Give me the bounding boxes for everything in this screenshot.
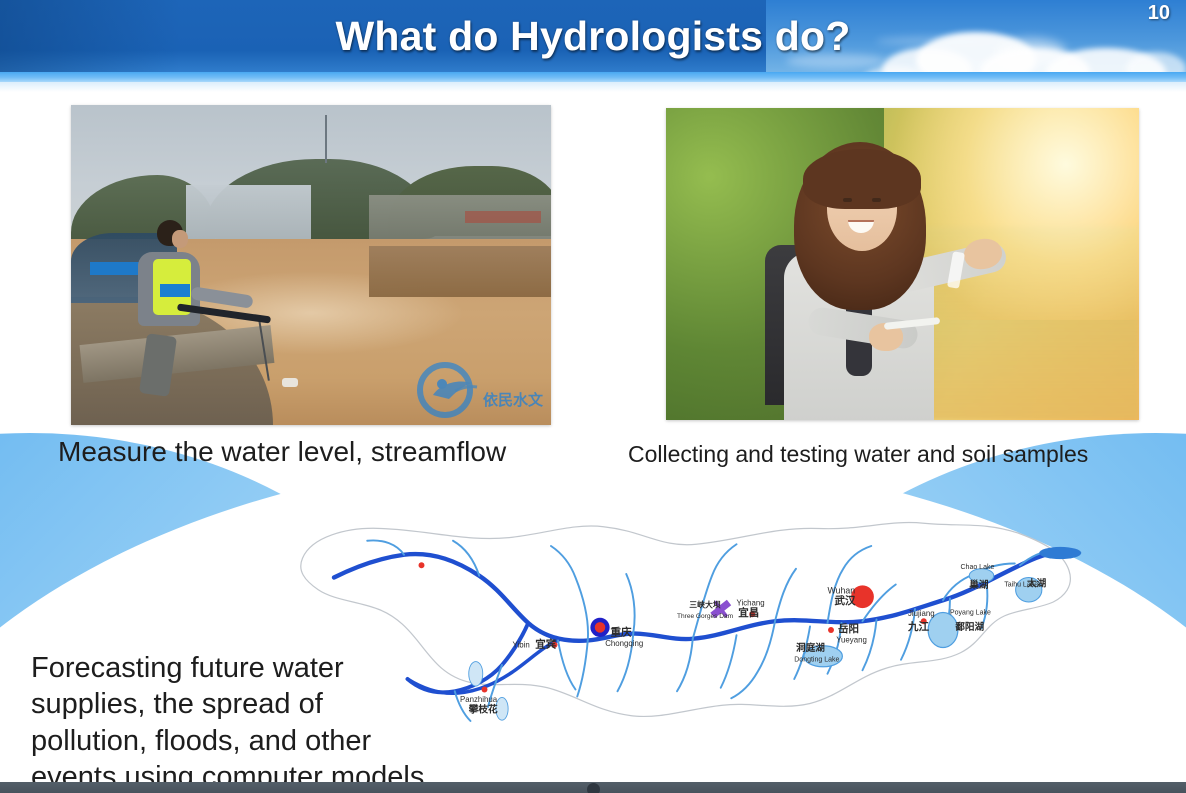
video-progress-knob[interactable] bbox=[587, 783, 600, 793]
label-chongqing-zh: 重庆 bbox=[611, 625, 633, 638]
label-chao-zh: 巢湖 bbox=[968, 579, 989, 591]
label-wuhan-zh: 武汉 bbox=[835, 594, 856, 607]
hydrology-watermark-logo: 依民水文 bbox=[415, 361, 545, 419]
label-yibin-zh: 宜宾 bbox=[535, 638, 556, 651]
lake-small bbox=[469, 662, 483, 687]
photo-far-bank bbox=[369, 246, 551, 297]
label-chao-en: Chao Lake bbox=[961, 564, 995, 571]
photo-vest-label bbox=[160, 284, 190, 297]
body-line: Forecasting future water bbox=[31, 650, 461, 686]
photo-measure-water-level: 依民水文 bbox=[71, 105, 551, 425]
header-accent-band bbox=[0, 72, 1186, 82]
marker-chongqing bbox=[595, 622, 606, 633]
body-line: supplies, the spread of bbox=[31, 686, 461, 722]
label-taihu-zh: 太湖 bbox=[1026, 577, 1047, 589]
photo-hair-front bbox=[803, 149, 921, 209]
photo-red-roof bbox=[465, 211, 542, 224]
label-panzhihua-en: Panzhihua bbox=[460, 695, 498, 704]
label-jiujiang-en: Jiujiang bbox=[908, 609, 935, 618]
marker-panzhihua bbox=[482, 687, 488, 693]
header-accent-fade bbox=[0, 82, 1186, 92]
label-chongqing-en: Chongqing bbox=[605, 639, 643, 648]
label-yibin-en: Yibin bbox=[513, 641, 530, 650]
photo-collecting-samples bbox=[666, 108, 1139, 420]
yangtze-estuary bbox=[1039, 547, 1081, 559]
label-yichang-zh: 宜昌 bbox=[738, 606, 759, 619]
photo-sensor bbox=[282, 378, 298, 387]
label-poyang-zh: 鄱阳湖 bbox=[954, 621, 984, 633]
slide-canvas: What do Hydrologists do? 10 bbox=[0, 0, 1186, 793]
watermark-text: 依民水文 bbox=[483, 391, 544, 409]
body-paragraph: Forecasting future water supplies, the s… bbox=[31, 650, 461, 793]
caption-right: Collecting and testing water and soil sa… bbox=[628, 441, 1088, 468]
lake-small bbox=[496, 697, 508, 720]
slide-header: What do Hydrologists do? 10 bbox=[0, 0, 1186, 72]
photo-buildings bbox=[186, 185, 311, 243]
label-dongting-en: Dongting Lake bbox=[794, 657, 839, 664]
photo-antenna-tower bbox=[325, 115, 327, 163]
label-poyang-en: Poyang Lake bbox=[950, 609, 991, 616]
marker-upstream-station bbox=[419, 562, 425, 568]
body-line: pollution, floods, and other bbox=[31, 723, 461, 759]
page-number: 10 bbox=[1148, 2, 1170, 25]
label-jiujiang-zh: 九江 bbox=[907, 620, 930, 633]
label-panzhihua-zh: 攀枝花 bbox=[468, 703, 498, 715]
label-yueyang-en: Yueyang bbox=[836, 635, 867, 644]
label-three-gorges-dam-en: Three Gorges Dam bbox=[677, 613, 734, 620]
caption-left: Measure the water level, streamflow bbox=[58, 436, 506, 468]
video-progress-bar[interactable] bbox=[0, 782, 1186, 793]
label-dongting-zh: 洞庭湖 bbox=[796, 642, 825, 654]
label-three-gorges-dam-zh: 三峡大坝 bbox=[689, 599, 721, 609]
photo-eye bbox=[872, 198, 881, 202]
photo-hydrologist-face bbox=[172, 230, 188, 248]
label-wuhan-en: Wuhan bbox=[828, 585, 856, 595]
label-yueyang-zh: 岳阳 bbox=[838, 622, 859, 635]
marker-yueyang bbox=[828, 627, 834, 633]
page-title: What do Hydrologists do? bbox=[0, 8, 1186, 68]
